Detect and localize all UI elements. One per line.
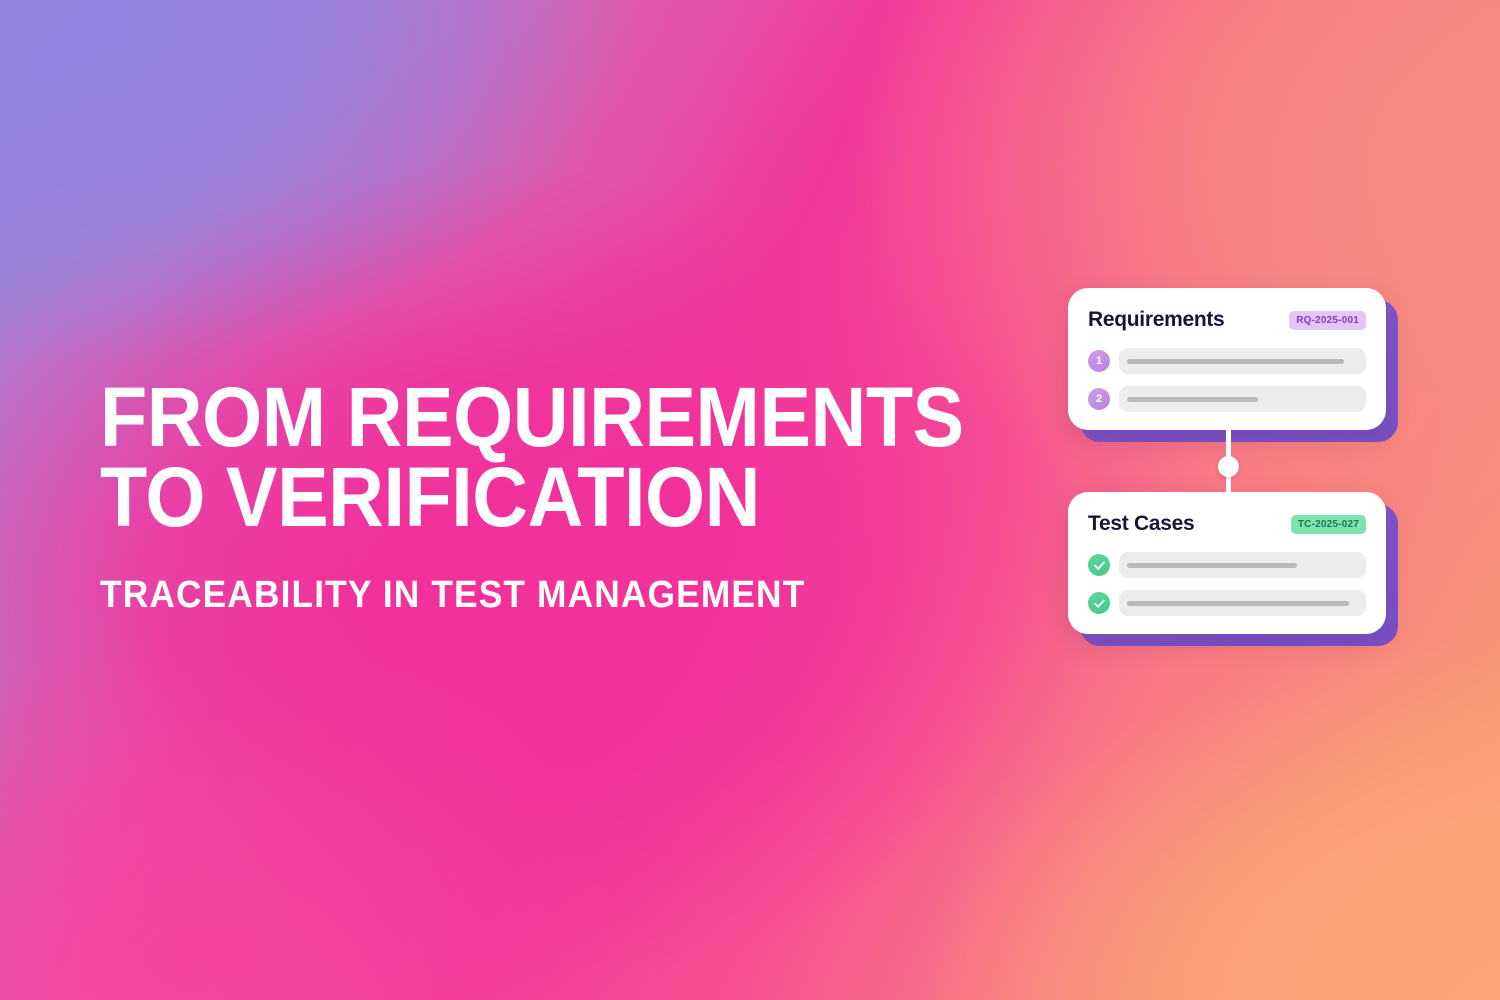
skeleton-bar-track [1119, 552, 1366, 578]
traceability-diagram: Requirements RQ-2025-001 1 2 [1068, 288, 1408, 678]
requirements-id-badge: RQ-2025-001 [1289, 311, 1366, 330]
poster-canvas: FROM REQUIREMENTS TO VERIFICATION TRACEA… [0, 0, 1500, 1000]
skeleton-bar-fill [1127, 359, 1344, 364]
test-cases-id-badge: TC-2025-027 [1291, 515, 1366, 534]
requirements-card-wrapper: Requirements RQ-2025-001 1 2 [1068, 288, 1398, 430]
requirements-card[interactable]: Requirements RQ-2025-001 1 2 [1068, 288, 1386, 430]
test-cases-row-list [1088, 552, 1366, 616]
number-badge-2: 2 [1088, 388, 1110, 410]
skeleton-bar-track [1119, 348, 1366, 374]
skeleton-bar-fill [1127, 601, 1349, 606]
skeleton-bar-track [1119, 386, 1366, 412]
check-icon [1088, 554, 1110, 576]
page-title: FROM REQUIREMENTS TO VERIFICATION [100, 378, 1020, 538]
hero-text-block: FROM REQUIREMENTS TO VERIFICATION TRACEA… [100, 378, 1100, 615]
list-item[interactable]: 1 [1088, 348, 1366, 374]
test-cases-card-wrapper: Test Cases TC-2025-027 [1068, 492, 1398, 634]
list-item[interactable]: 2 [1088, 386, 1366, 412]
connector-node-icon [1218, 456, 1239, 477]
skeleton-bar-fill [1127, 563, 1297, 568]
test-cases-card-title: Test Cases [1088, 512, 1194, 536]
test-cases-card[interactable]: Test Cases TC-2025-027 [1068, 492, 1386, 634]
requirements-row-list: 1 2 [1088, 348, 1366, 412]
list-item[interactable] [1088, 552, 1366, 578]
requirements-card-header: Requirements RQ-2025-001 [1088, 308, 1366, 332]
skeleton-bar-fill [1127, 397, 1258, 402]
check-icon [1088, 592, 1110, 614]
page-subtitle: TRACEABILITY IN TEST MANAGEMENT [100, 576, 1030, 616]
skeleton-bar-track [1119, 590, 1366, 616]
number-badge-1: 1 [1088, 350, 1110, 372]
list-item[interactable] [1088, 590, 1366, 616]
headline-line-2: TO VERIFICATION [100, 458, 1020, 538]
requirements-card-title: Requirements [1088, 308, 1224, 332]
card-connector [1068, 430, 1386, 492]
test-cases-card-header: Test Cases TC-2025-027 [1088, 512, 1366, 536]
